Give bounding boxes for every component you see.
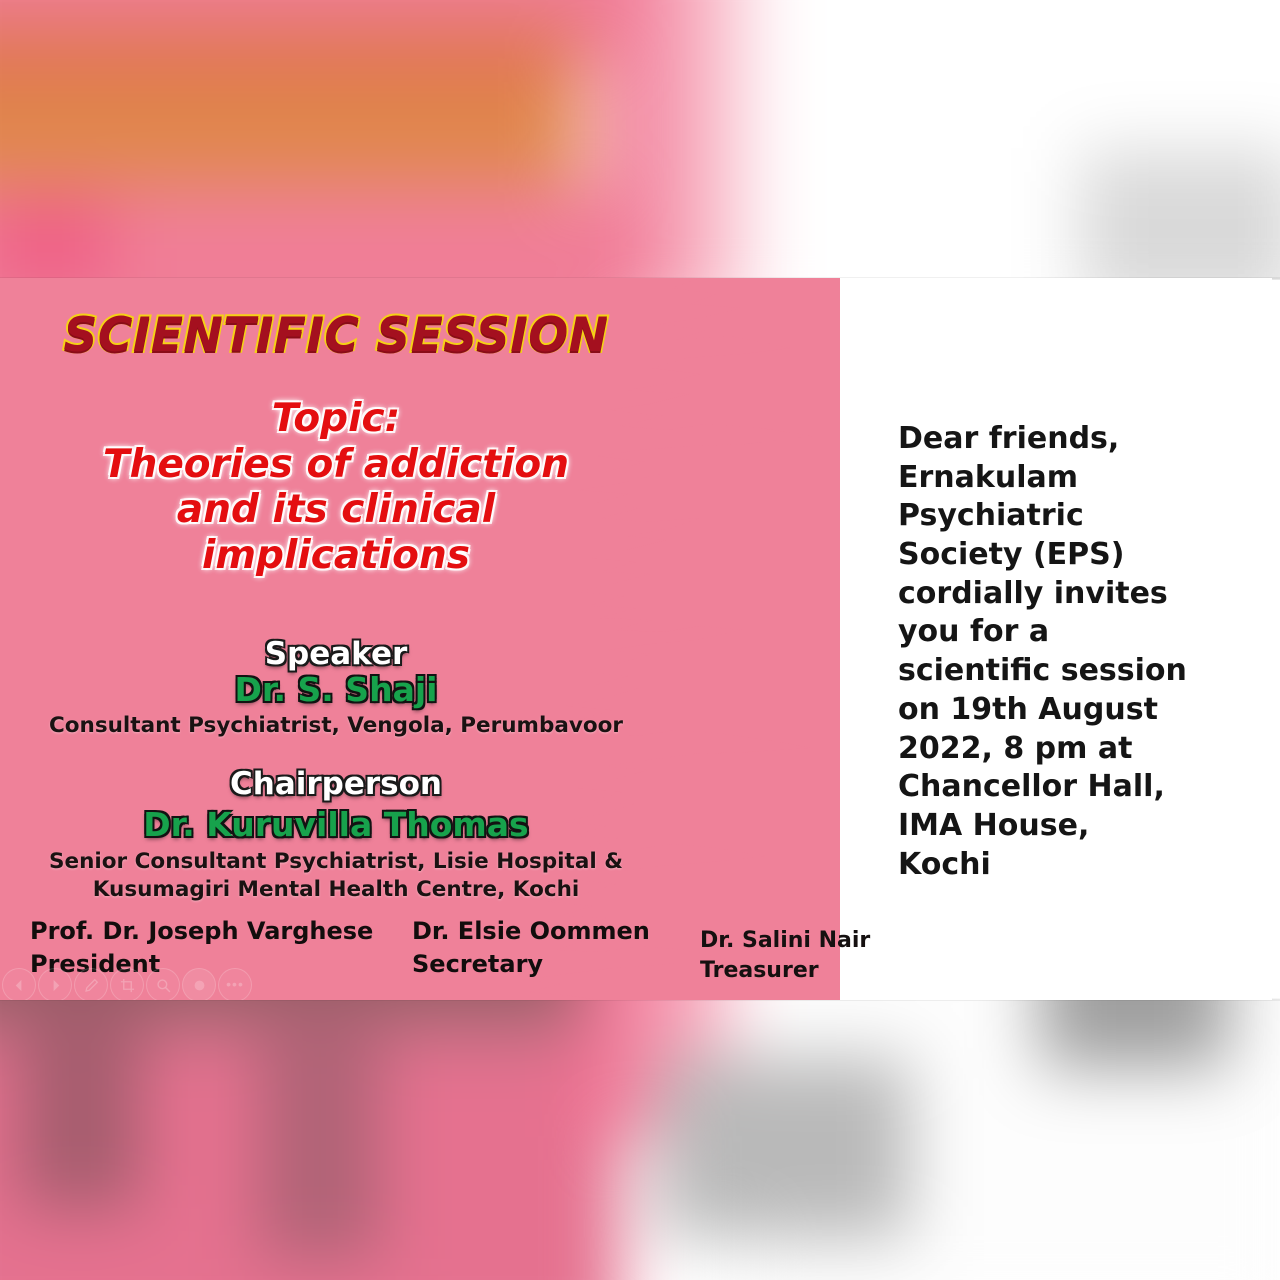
invitation-line: Psychiatric <box>898 497 1238 536</box>
invitation-line: Kochi <box>898 846 1238 885</box>
chairperson-role-heading: Chairperson <box>0 766 672 802</box>
topic-line-2: and its clinical <box>0 487 672 533</box>
overlay-toolbar[interactable]: ••• <box>2 968 254 1000</box>
chairperson-affiliation-line-1: Senior Consultant Psychiatrist, Lisie Ho… <box>49 849 623 874</box>
chairperson-affiliation-line-2: Kusumagiri Mental Health Centre, Kochi <box>93 877 580 902</box>
back-arrow-icon[interactable] <box>2 968 36 1000</box>
pencil-edit-icon[interactable] <box>74 968 108 1000</box>
topic-line-1: Theories of addiction <box>0 442 672 488</box>
official-name: Dr. Elsie Oommen <box>412 915 650 948</box>
more-ellipsis-icon[interactable]: ••• <box>218 968 252 1000</box>
official-treasurer: Dr. Salini Nair Treasurer <box>700 926 870 987</box>
invitation-line: cordially invites <box>898 575 1238 614</box>
blurred-backdrop-bottom <box>0 998 1280 1280</box>
poster-title: SCIENTIFIC SESSION <box>0 308 672 363</box>
topic-line-3: implications <box>0 533 672 579</box>
forward-play-icon[interactable] <box>38 968 72 1000</box>
invitation-line: 2022, 8 pm at <box>898 730 1238 769</box>
invitation-line: Society (EPS) <box>898 536 1238 575</box>
topic-label: Topic: <box>0 396 672 442</box>
official-secretary: Dr. Elsie Oommen Secretary <box>412 915 650 981</box>
crop-icon[interactable] <box>110 968 144 1000</box>
speaker-role-heading: Speaker <box>0 636 672 672</box>
chairperson-affiliation: Senior Consultant Psychiatrist, Lisie Ho… <box>0 848 672 903</box>
invitation-line: scientific session <box>898 652 1238 691</box>
poster-left-column: SCIENTIFIC SESSION Topic: Theories of ad… <box>0 278 672 1000</box>
poster-card: SCIENTIFIC SESSION Topic: Theories of ad… <box>0 278 1272 1000</box>
blurred-backdrop-top <box>0 0 1280 280</box>
screenshot-root: SCIENTIFIC SESSION Topic: Theories of ad… <box>0 0 1280 1280</box>
search-icon[interactable] <box>146 968 180 1000</box>
invitation-line: Ernakulam <box>898 459 1238 498</box>
circle-fill-icon[interactable] <box>182 968 216 1000</box>
speaker-affiliation: Consultant Psychiatrist, Vengola, Perumb… <box>0 712 672 740</box>
invitation-text: Dear friends, Ernakulam Psychiatric Soci… <box>898 420 1238 884</box>
topic-block: Topic: Theories of addiction and its cli… <box>0 396 672 579</box>
chairperson-name: Dr. Kuruvilla Thomas <box>0 805 672 844</box>
more-ellipsis-label: ••• <box>226 977 244 994</box>
official-role: Secretary <box>412 948 650 981</box>
invitation-line: you for a <box>898 613 1238 652</box>
invitation-line: on 19th August <box>898 691 1238 730</box>
invitation-line: Dear friends, <box>898 420 1238 459</box>
official-role: Treasurer <box>700 956 870 986</box>
official-name: Dr. Salini Nair <box>700 926 870 956</box>
invitation-line: Chancellor Hall, <box>898 768 1238 807</box>
official-name: Prof. Dr. Joseph Varghese <box>30 915 373 948</box>
speaker-name: Dr. S. Shaji <box>0 670 672 709</box>
invitation-line: IMA House, <box>898 807 1238 846</box>
